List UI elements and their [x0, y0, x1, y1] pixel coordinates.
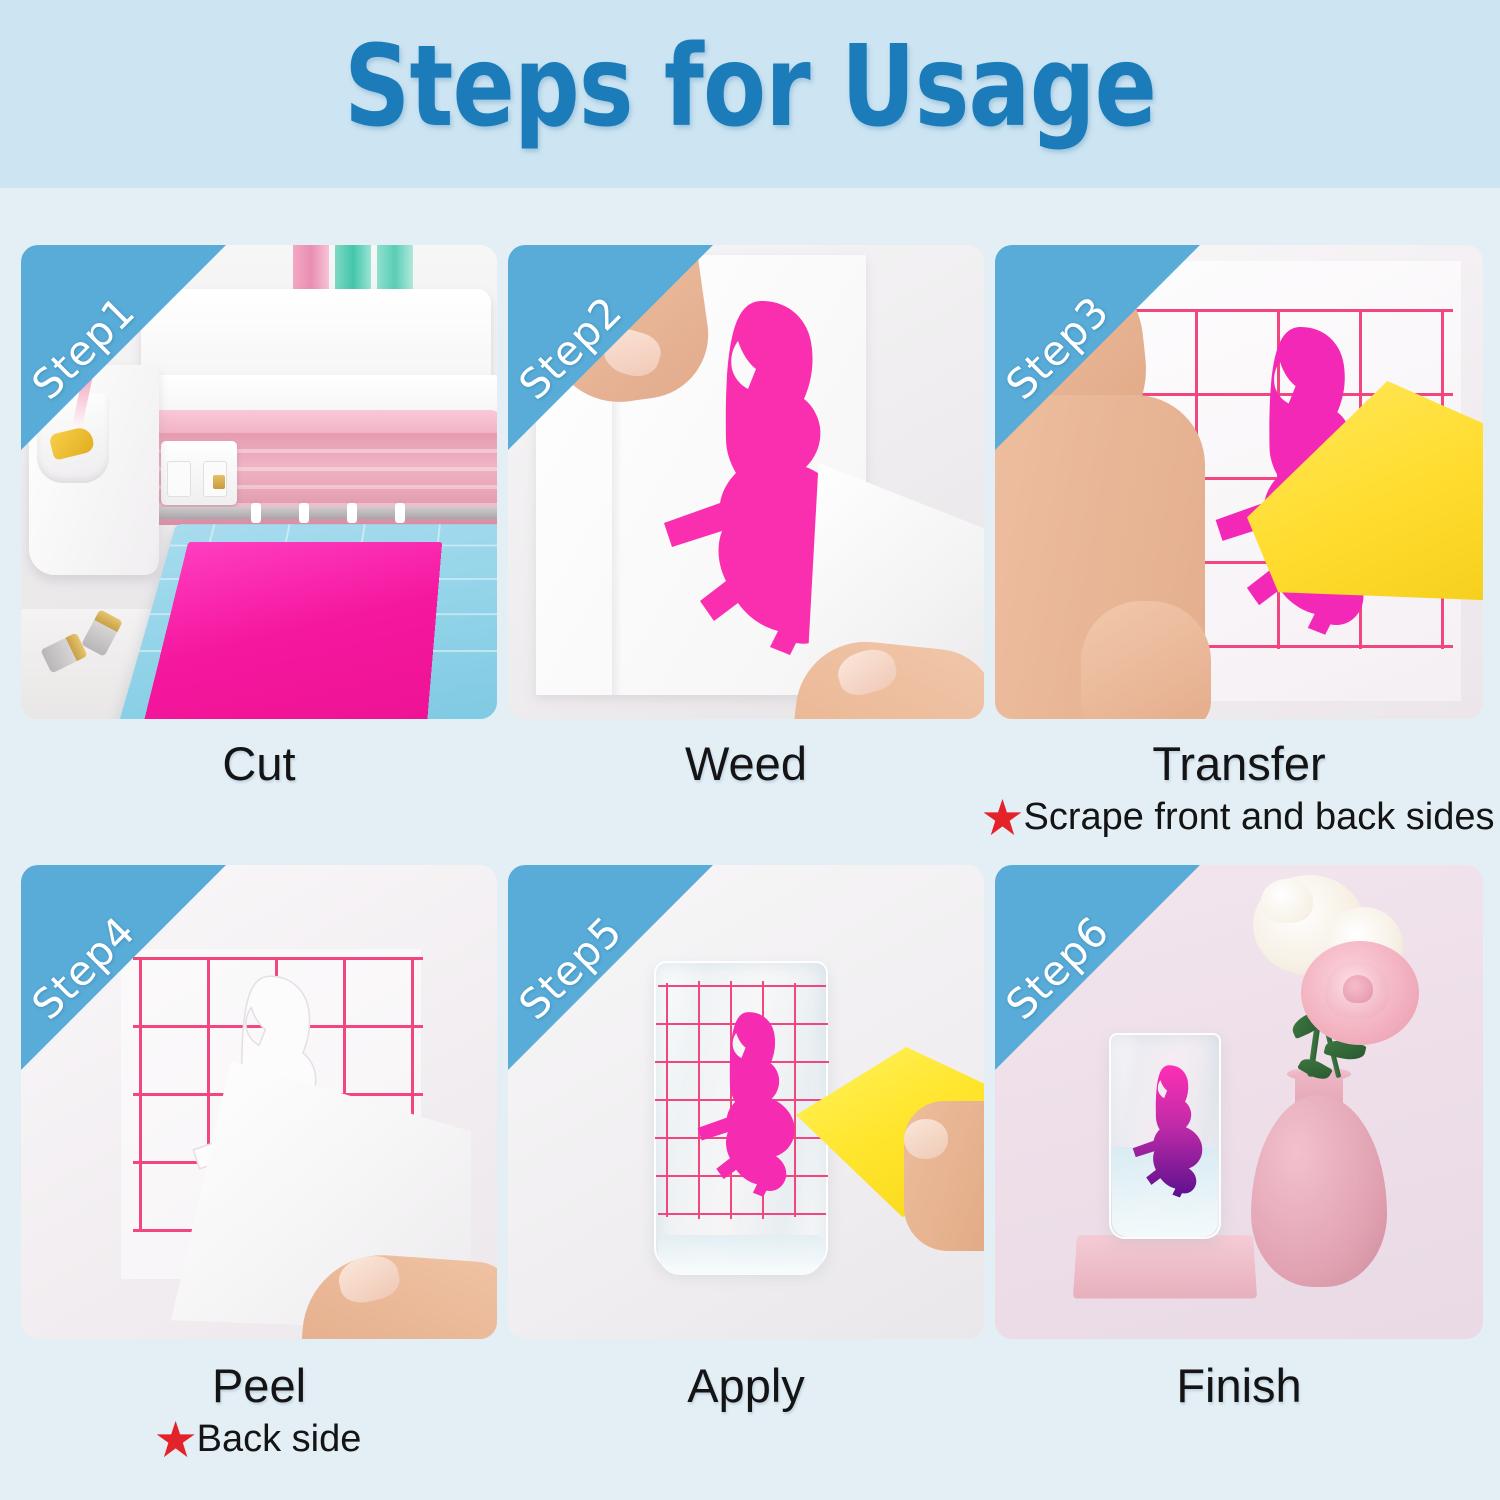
step-caption-block-6: Finish: [995, 1339, 1483, 1485]
header-band: Steps for Usage: [0, 0, 1500, 188]
step-caption-block-3: Transfer Scrape front and back sides: [995, 719, 1483, 865]
step-caption-6: Finish: [995, 1361, 1483, 1410]
step-cell-1: Step1 Cut: [21, 245, 497, 865]
roller: [251, 503, 261, 523]
step-note-4: Back side: [21, 1418, 497, 1461]
step-cell-5: Step5 Apply: [508, 865, 984, 1485]
step-caption-1: Cut: [21, 739, 497, 788]
glass-base: [658, 1235, 824, 1275]
step-caption-block-4: Peel Back side: [21, 1339, 497, 1485]
page-title: Steps for Usage: [344, 31, 1156, 157]
step-card-5[interactable]: Step5: [508, 865, 984, 1339]
steps-grid: Step1 Cut Step2: [21, 245, 1481, 1485]
machine-carriage: [161, 441, 237, 505]
step-card-4[interactable]: Step4: [21, 865, 497, 1339]
step-card-6[interactable]: Step6: [995, 865, 1483, 1339]
fingernail: [904, 1119, 948, 1159]
step-cell-4: Step4 Peel Back side: [21, 865, 497, 1485]
step-cell-3: Step3 Transfer Scrape front and back sid…: [995, 245, 1483, 865]
thumb: [1081, 601, 1211, 719]
step-caption-3: Transfer: [995, 739, 1483, 788]
step-caption-block-5: Apply: [508, 1339, 984, 1485]
step-card-1[interactable]: Step1: [21, 245, 497, 719]
rose-petal: [1261, 879, 1313, 923]
step-card-3[interactable]: Step3: [995, 245, 1483, 719]
step-card-2[interactable]: Step2: [508, 245, 984, 719]
red-star-icon: [983, 799, 1021, 837]
mermaid-decal-gradient: [1123, 1051, 1209, 1211]
red-star-icon: [157, 1421, 195, 1459]
step-note-text: Back side: [197, 1418, 362, 1461]
step-cell-6: Step6 Finish: [995, 865, 1483, 1485]
ceramic-vase-pink: [1251, 1095, 1387, 1287]
mermaid-silhouette-pink: [684, 999, 804, 1209]
step-caption-block-2: Weed: [508, 719, 984, 865]
rose-center: [1343, 975, 1373, 1003]
step-caption-4: Peel: [21, 1361, 497, 1410]
roller: [347, 503, 357, 523]
step-caption-block-1: Cut: [21, 719, 497, 865]
vinyl-sheet-magenta: [143, 542, 442, 719]
step-cell-2: Step2 Weed: [508, 245, 984, 865]
step-note-3: Scrape front and back sides: [995, 796, 1483, 839]
step-caption-5: Apply: [508, 1361, 984, 1410]
step-note-text: Scrape front and back sides: [1023, 796, 1494, 839]
machine-top-shell: [141, 289, 491, 389]
roller: [299, 503, 309, 523]
roller: [395, 503, 405, 523]
step-caption-2: Weed: [508, 739, 984, 788]
pink-riser-block: [1073, 1235, 1257, 1298]
